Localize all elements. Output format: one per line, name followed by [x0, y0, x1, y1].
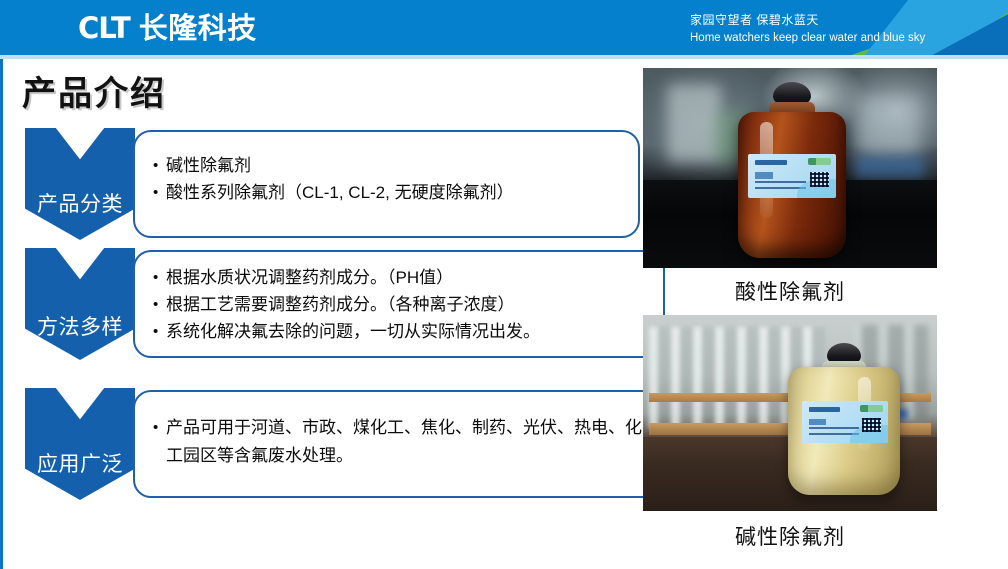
bullet-list-1: 碱性除氟剂 酸性系列除氟剂（CL-1, CL-2, 无硬度除氟剂）	[135, 132, 638, 206]
company-logo: CLT长隆科技	[78, 13, 257, 44]
chevron-label-2: 方法多样	[37, 311, 123, 341]
photo-image-alkaline	[643, 315, 937, 511]
list-item: 酸性系列除氟剂（CL-1, CL-2, 无硬度除氟剂）	[153, 179, 624, 206]
content-box-1: 碱性除氟剂 酸性系列除氟剂（CL-1, CL-2, 无硬度除氟剂）	[133, 130, 640, 238]
label-brand-logo	[860, 405, 882, 412]
slide: CLT长隆科技 家园守望者 保碧水蓝天 Home watchers keep c…	[0, 0, 1008, 569]
list-item: 根据水质状况调整药剂成分。（PH值）	[153, 264, 653, 291]
list-item: 系统化解决氟去除的问题，一切从实际情况出发。	[153, 318, 653, 345]
bullet-list-3: 产品可用于河道、市政、煤化工、焦化、制药、光伏、热电、化工园区等含氟废水处理。	[135, 392, 661, 470]
slogan-english: Home watchers keep clear water and blue …	[690, 31, 925, 46]
product-photo-acidic: 酸性除氟剂	[643, 68, 937, 268]
product-photo-alkaline: 碱性除氟剂	[643, 315, 937, 511]
background-blur-shape	[859, 96, 919, 156]
chevron-shape-3: 应用广泛	[25, 388, 135, 500]
background-blur-shape	[667, 84, 721, 162]
content-box-2: 根据水质状况调整药剂成分。（PH值） 根据工艺需要调整药剂成分。（各种离子浓度）…	[133, 250, 665, 358]
label-title-bar	[809, 407, 840, 412]
photo-caption-acidic: 酸性除氟剂	[643, 276, 937, 306]
label-qr-code	[862, 418, 881, 432]
label-icon-group	[755, 172, 773, 178]
content-box-3: 产品可用于河道、市政、煤化工、焦化、制药、光伏、热电、化工园区等含氟废水处理。	[133, 390, 663, 498]
bottle-label-alkaline	[802, 401, 888, 443]
page-title: 产品介绍	[22, 66, 166, 115]
left-accent-rule	[0, 59, 3, 569]
logo-mark-text: CLT	[78, 11, 130, 45]
list-item: 根据工艺需要调整药剂成分。（各种离子浓度）	[153, 291, 653, 318]
chevron-shape-1: 产品分类	[25, 128, 135, 240]
slogan-chinese: 家园守望者 保碧水蓝天	[690, 13, 925, 28]
list-item: 产品可用于河道、市政、煤化工、焦化、制药、光伏、热电、化工园区等含氟废水处理。	[153, 414, 651, 470]
bottle-alkaline	[788, 343, 900, 495]
label-qr-code	[810, 172, 829, 187]
logo-company-name: 长隆科技	[139, 13, 257, 45]
content-block-wide-application: 应用广泛 产品可用于河道、市政、煤化工、焦化、制药、光伏、热电、化工园区等含氟废…	[25, 388, 640, 500]
page-header: CLT长隆科技 家园守望者 保碧水蓝天 Home watchers keep c…	[0, 0, 1008, 55]
label-icon-group	[809, 419, 826, 425]
bottle-label-acidic	[748, 154, 836, 198]
photo-image-acidic	[643, 68, 937, 268]
photo-caption-alkaline: 碱性除氟剂	[643, 521, 937, 551]
header-underline	[0, 55, 1008, 59]
bullet-list-2: 根据水质状况调整药剂成分。（PH值） 根据工艺需要调整药剂成分。（各种离子浓度）…	[135, 252, 663, 345]
list-item: 碱性除氟剂	[153, 152, 624, 179]
label-brand-logo	[808, 158, 831, 165]
label-title-bar	[755, 160, 787, 165]
header-slogan: 家园守望者 保碧水蓝天 Home watchers keep clear wat…	[690, 13, 925, 46]
chevron-label-3: 应用广泛	[37, 448, 123, 478]
content-block-method-diversity: 方法多样 根据水质状况调整药剂成分。（PH值） 根据工艺需要调整药剂成分。（各种…	[25, 248, 640, 360]
bottle-acidic	[738, 82, 846, 258]
chevron-label-1: 产品分类	[37, 188, 123, 218]
content-block-product-classification: 产品分类 碱性除氟剂 酸性系列除氟剂（CL-1, CL-2, 无硬度除氟剂）	[25, 128, 640, 240]
chevron-shape-2: 方法多样	[25, 248, 135, 360]
background-blur-shape	[855, 156, 925, 178]
